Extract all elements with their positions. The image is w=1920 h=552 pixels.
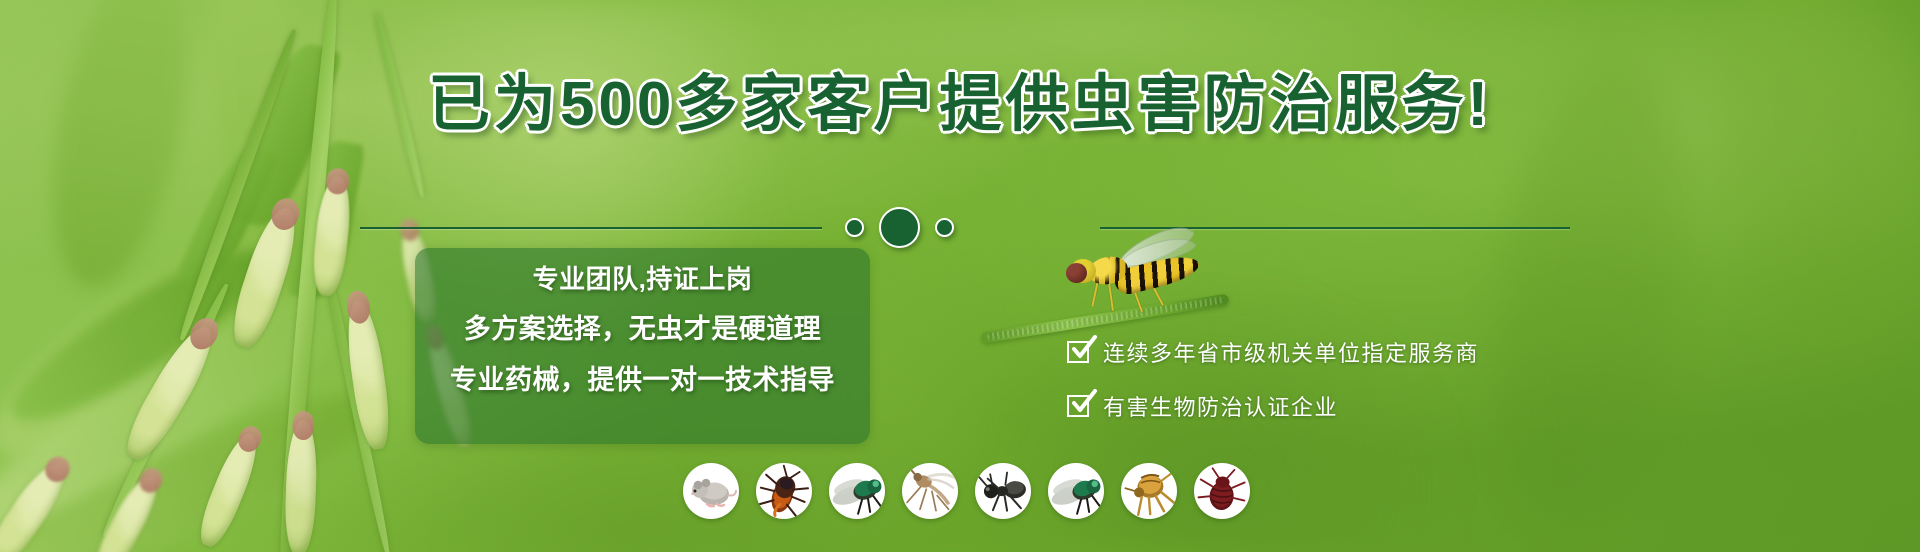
hoverfly-eye <box>1066 263 1087 283</box>
flea-icon <box>1121 463 1177 519</box>
checkbox-check-icon <box>1067 341 1089 363</box>
feature-panel-line-3: 专业药械，提供一对一技术指导 <box>415 366 870 394</box>
divider-line-left <box>360 227 822 229</box>
credential-row: 有害生物防治认证企业 <box>1067 390 1479 422</box>
pest-circle-fly[interactable] <box>829 463 885 519</box>
hoverfly-icon <box>1058 243 1208 313</box>
flower-catkin <box>193 429 266 552</box>
feature-panel: 专业团队,持证上岗 多方案选择，无虫才是硬道理 专业药械，提供一对一技术指导 <box>415 248 870 444</box>
hoverfly-leg <box>1108 283 1114 311</box>
pest-circle-ant[interactable] <box>975 463 1031 519</box>
credentials-list: 连续多年省市级机关单位指定服务商 有害生物防治认证企业 <box>1067 336 1479 422</box>
divider-large-dot <box>879 207 920 248</box>
credential-text: 有害生物防治认证企业 <box>1103 390 1338 422</box>
feature-panel-line-1: 专业团队,持证上岗 <box>415 266 870 293</box>
ant-icon <box>975 463 1031 519</box>
mosquito-icon <box>902 463 958 519</box>
pest-circle-mosquito[interactable] <box>902 463 958 519</box>
credential-text: 连续多年省市级机关单位指定服务商 <box>1103 336 1479 368</box>
divider <box>0 208 1920 248</box>
bedbug-icon <box>1194 463 1250 519</box>
flower-catkin <box>0 456 75 552</box>
pest-circle-fly-2[interactable] <box>1048 463 1104 519</box>
banner-headline: 已为500多家客户提供虫害防治服务! <box>0 74 1920 136</box>
pest-circle-cockroach[interactable] <box>756 463 812 519</box>
fly-icon <box>1048 463 1104 519</box>
hoverfly-leg <box>1091 281 1098 307</box>
divider-small-dot-left <box>845 218 864 237</box>
divider-small-dot-right <box>935 218 954 237</box>
pest-circle-mouse[interactable] <box>683 463 739 519</box>
fly-icon <box>829 463 885 519</box>
feature-panel-line-2: 多方案选择，无虫才是硬道理 <box>415 315 870 343</box>
pest-icon-strip <box>683 463 1250 519</box>
credential-row: 连续多年省市级机关单位指定服务商 <box>1067 336 1479 368</box>
pest-circle-flea[interactable] <box>1121 463 1177 519</box>
checkbox-check-icon <box>1067 395 1089 417</box>
cockroach-icon <box>756 463 812 519</box>
pest-circle-bedbug[interactable] <box>1194 463 1250 519</box>
mouse-icon <box>683 463 739 519</box>
pest-control-banner: 已为500多家客户提供虫害防治服务! 专业团队,持证上岗 多方案选择，无虫才是硬… <box>0 0 1920 552</box>
